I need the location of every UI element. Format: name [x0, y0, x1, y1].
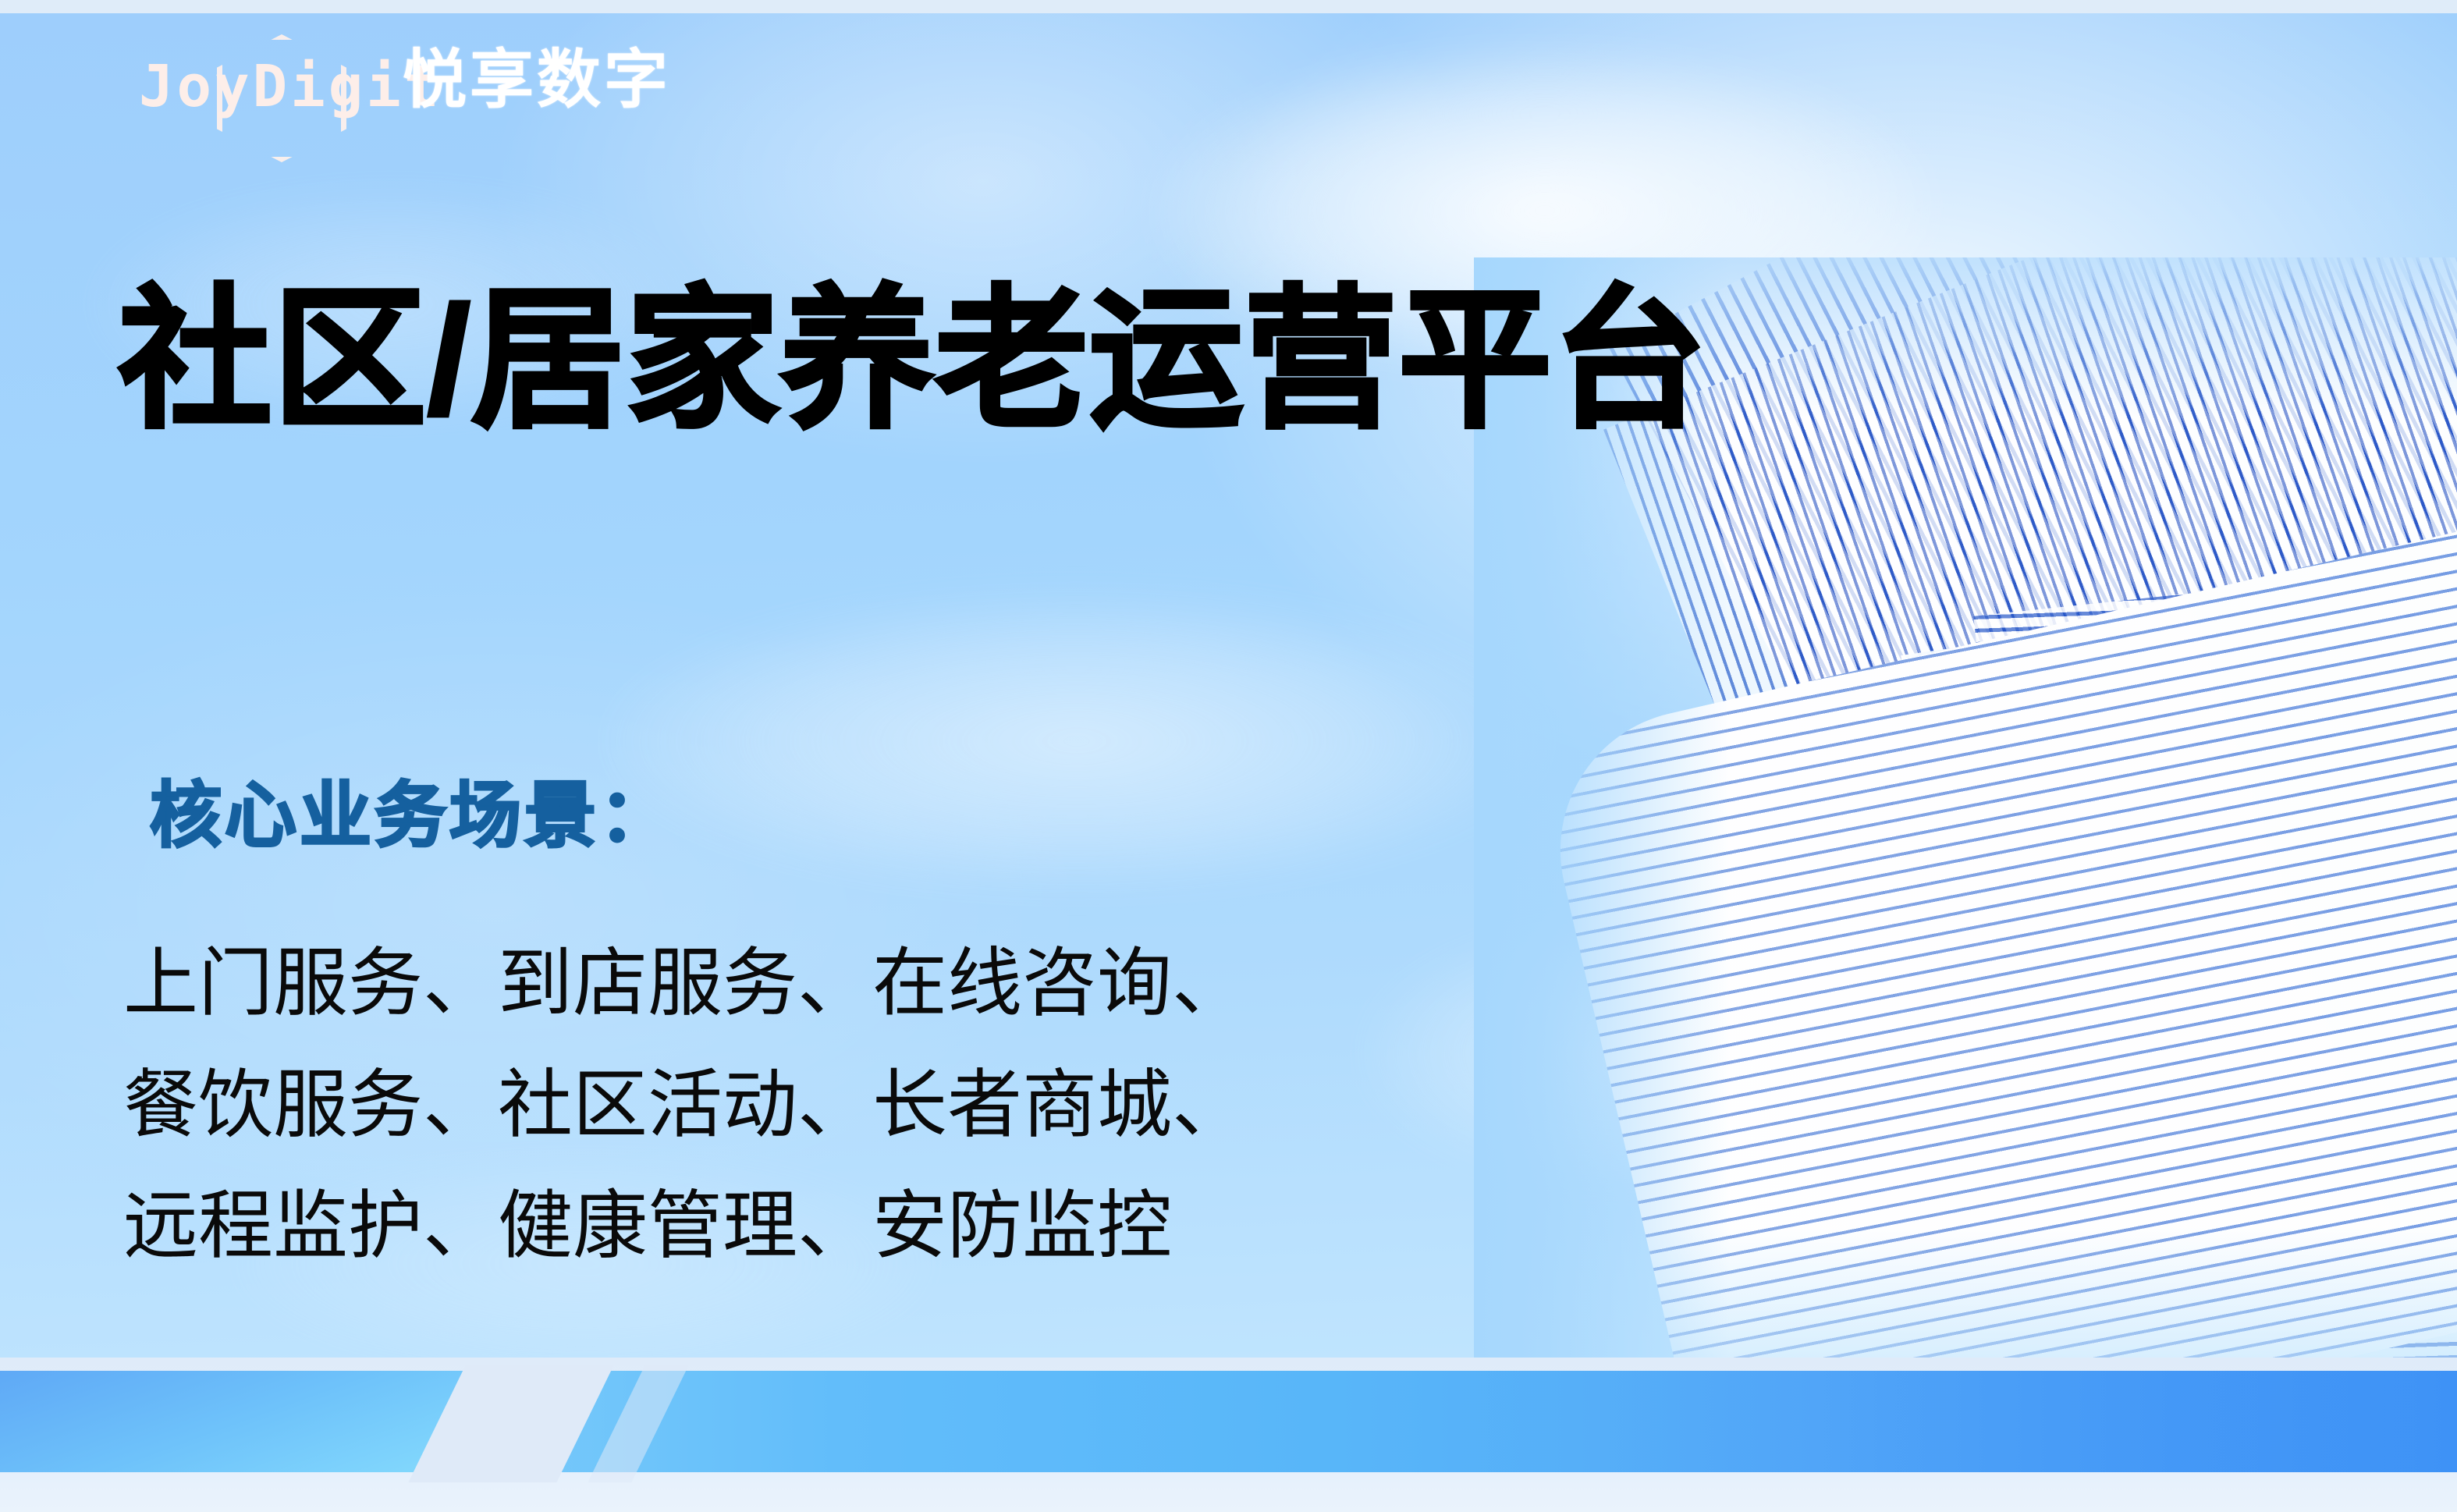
bar-right-gradient: [1599, 1371, 2457, 1472]
section-heading: 核心业务场景：: [150, 777, 674, 856]
scenario-line: 餐饮服务、社区活动、长者商城、: [123, 1045, 1247, 1166]
page-title: 社区/居家养老运营平台: [119, 275, 1707, 446]
top-band: [0, 0, 2457, 13]
scenario-list: 上门服务、到店服务、在线咨询、 餐饮服务、社区活动、长者商城、 远程监护、健康管…: [123, 923, 1247, 1287]
slide-canvas: JoyDigit 悦享数字 社区/居家养老运营平台 核心业务场景： 上门服务、到…: [0, 0, 2457, 1512]
scenario-line: 远程监护、健康管理、安防监控: [123, 1166, 1247, 1287]
scenario-line: 上门服务、到店服务、在线咨询、: [123, 923, 1247, 1045]
bottom-decor-bar: [0, 1358, 2457, 1512]
logo-wordmark-cn: 悦享数字: [403, 48, 671, 112]
logo-wordmark-en: JoyDigit: [139, 58, 442, 115]
brand-logo: JoyDigit 悦享数字: [139, 41, 669, 142]
